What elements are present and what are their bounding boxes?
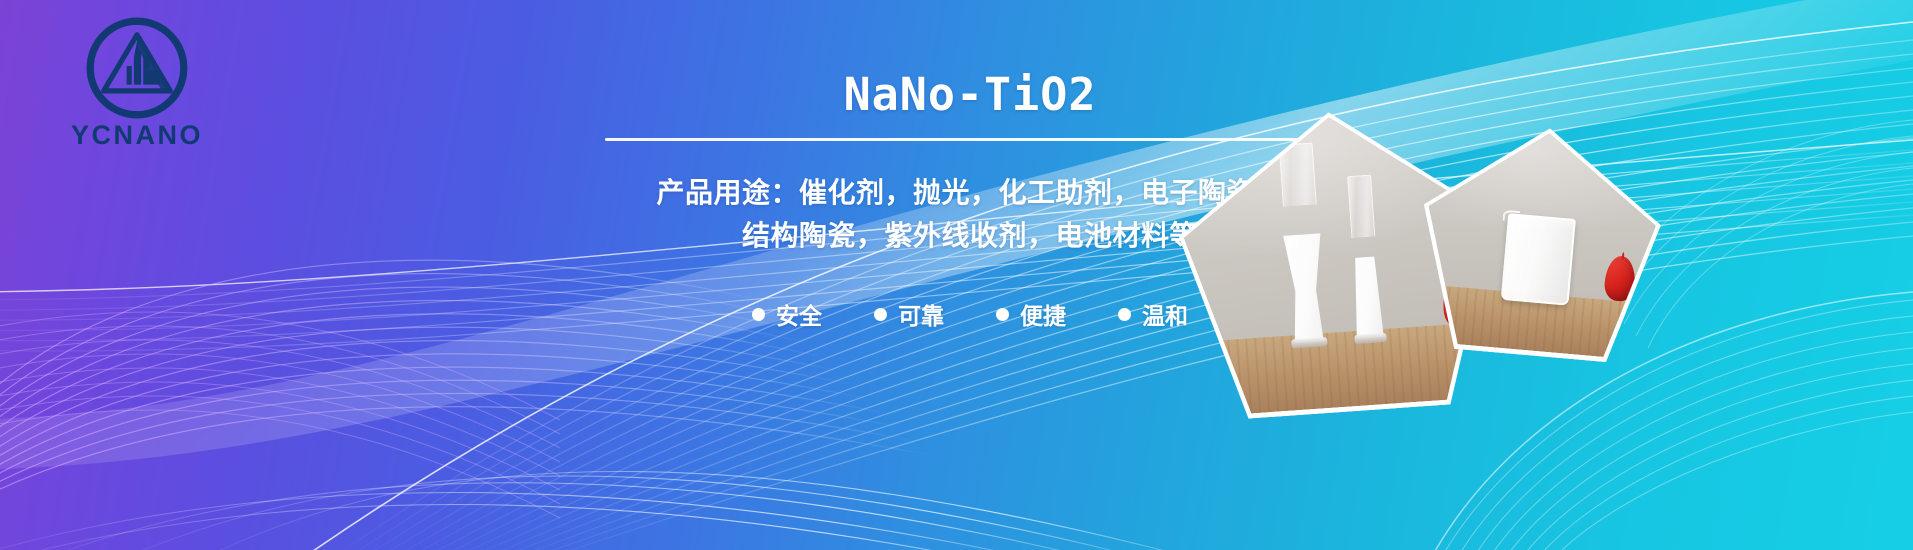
bullet-dot-icon <box>752 308 765 321</box>
beaker-suspension-product-photo <box>1412 118 1669 366</box>
feature-item-convenient: 便捷 <box>996 297 1066 331</box>
feature-label: 安全 <box>776 297 822 331</box>
brand-logo[interactable]: YCNANO <box>42 16 232 149</box>
brand-wordmark: YCNANO <box>42 122 232 149</box>
feature-label: 可靠 <box>898 297 944 331</box>
product-banner: YCNANO NaNo-TiO2 产品用途：催化剂，抛光，化工助剂，电子陶瓷， … <box>0 0 1913 550</box>
tall-white-vase <box>1273 190 1335 344</box>
bullet-dot-icon <box>874 308 887 321</box>
feature-label: 便捷 <box>1020 297 1066 331</box>
feature-item-safe: 安全 <box>752 297 822 331</box>
ycnano-mountain-circle-logo-icon <box>85 16 189 120</box>
glass-beaker <box>1501 213 1577 306</box>
feature-item-reliable: 可靠 <box>874 297 944 331</box>
product-photo-group <box>1153 0 1913 550</box>
short-white-vase <box>1343 227 1390 340</box>
bullet-dot-icon <box>996 308 1009 321</box>
bullet-dot-icon <box>1118 308 1131 321</box>
photo-frame-inner <box>1417 123 1663 360</box>
product-scene <box>1417 123 1663 360</box>
